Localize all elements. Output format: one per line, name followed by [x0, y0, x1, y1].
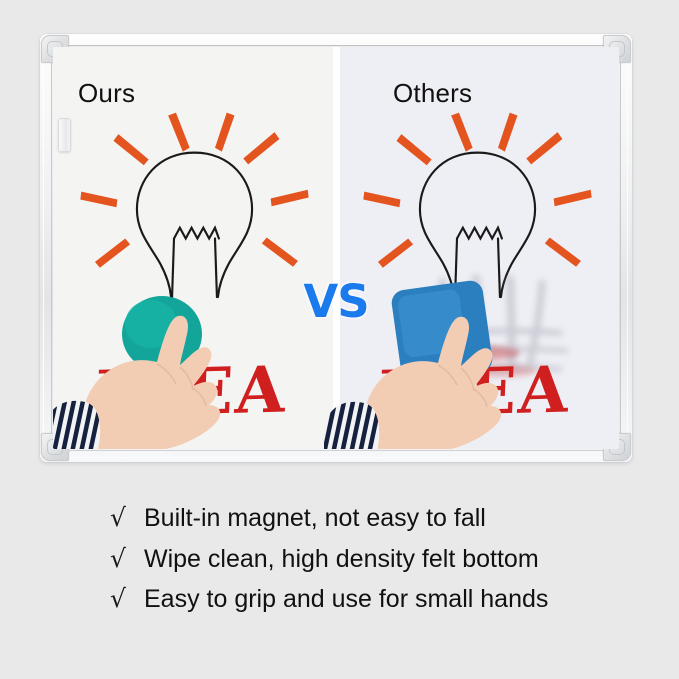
feature-text: Wipe clean, high density felt bottom	[144, 546, 539, 573]
whiteboard-frame: Ours	[40, 34, 632, 462]
feature-item: √ Easy to grip and use for small hands	[110, 586, 590, 613]
check-icon: √	[110, 505, 144, 530]
feature-list: √ Built-in magnet, not easy to fall √ Wi…	[110, 505, 590, 627]
frame-bevel-top	[46, 37, 626, 38]
feature-text: Easy to grip and use for small hands	[144, 586, 548, 613]
frame-bevel-bottom	[46, 457, 626, 458]
hand-with-round-eraser	[53, 272, 255, 449]
whiteboard-surface: Ours	[53, 47, 619, 449]
marker-tray-clip	[58, 118, 71, 152]
feature-item: √ Wipe clean, high density felt bottom	[110, 546, 590, 573]
feature-item: √ Built-in magnet, not easy to fall	[110, 505, 590, 532]
check-icon: √	[110, 546, 144, 571]
versus-badge: VS	[303, 275, 368, 328]
comparison-panel-ours: Ours	[53, 47, 336, 449]
frame-bevel-right	[627, 40, 628, 456]
feature-text: Built-in magnet, not easy to fall	[144, 505, 486, 532]
whiteboard: Ours	[40, 34, 632, 462]
check-icon: √	[110, 586, 144, 611]
frame-bevel-left	[43, 40, 44, 456]
product-comparison-image: Ours	[0, 0, 679, 679]
comparison-panel-others: Others	[336, 47, 619, 449]
